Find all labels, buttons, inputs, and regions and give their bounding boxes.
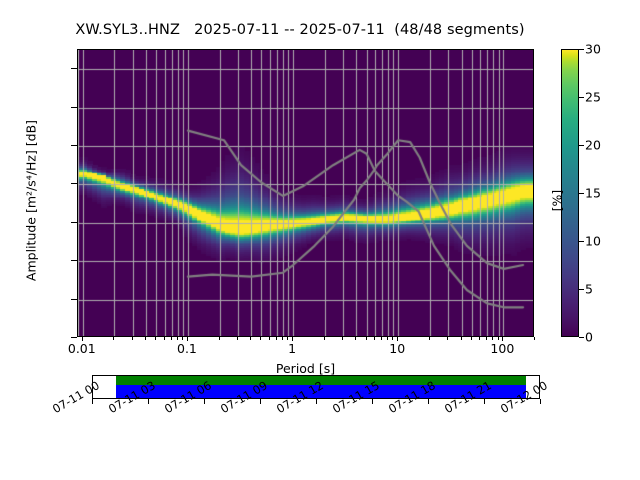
colorbar-tick-label: 0 [585,330,593,345]
y-tick-mark [71,145,77,146]
x-tick-mark-minor [429,337,430,340]
colorbar-tick-label: 10 [585,234,601,249]
x-tick-mark-minor [219,337,220,340]
x-tick-label: 100 [490,341,514,356]
y-tick-mark [71,299,77,300]
y-tick-mark [71,183,77,184]
x-tick-mark-minor [164,337,165,340]
x-tick-mark-minor [392,337,393,340]
x-tick-label: 0.1 [177,341,197,356]
x-tick-mark-minor [132,337,133,340]
x-tick-mark-minor [486,337,487,340]
x-tick-mark-minor [250,337,251,340]
x-tick-mark-minor [282,337,283,340]
time-tick-mark [204,399,205,404]
colorbar-tick-label: 20 [585,138,601,153]
x-tick-mark-minor [182,337,183,340]
x-tick-mark-minor [145,337,146,340]
y-tick-mark [71,337,77,338]
y-tick-mark [71,222,77,223]
colorbar-tick-label: 15 [585,186,601,201]
colorbar-tick-label: 30 [585,42,601,57]
x-tick-mark-minor [374,337,375,340]
x-tick-mark-minor [381,337,382,340]
x-tick-mark-minor [113,337,114,340]
colorbar-tick-mark [579,49,584,50]
x-tick-mark-minor [324,337,325,340]
colorbar-tick-mark [579,193,584,194]
ppsd-figure: XW.SYL3..HNZ 2025-07-11 -- 2025-07-11 (4… [0,0,640,480]
y-tick-mark [71,68,77,69]
time-tick-mark [484,399,485,404]
x-tick-label: 10 [389,341,405,356]
x-tick-mark-minor [342,337,343,340]
colorbar-tick-mark [579,241,584,242]
x-tick-mark-minor [447,337,448,340]
colorbar-tick-label: 5 [585,282,593,297]
colorbar-tick-label: 25 [585,90,601,105]
y-tick-mark [71,107,77,108]
x-tick-mark-minor [461,337,462,340]
colorbar-tick-mark [579,337,584,338]
x-tick-mark-minor [276,337,277,340]
colorbar-tick-mark [579,97,584,98]
x-tick-mark-minor [355,337,356,340]
x-tick-mark-minor [287,337,288,340]
x-axis-label: Period [s] [77,361,534,376]
ppsd-plot-area[interactable] [77,49,534,337]
time-tick-mark [316,399,317,404]
colorbar-label: [%] [550,141,565,261]
colorbar-tick-mark [579,289,584,290]
x-tick-mark-minor [155,337,156,340]
y-axis-label: Amplitude [m²/s⁴/Hz] [dB] [24,51,39,351]
time-tick-mark [92,399,93,404]
x-tick-mark-minor [366,337,367,340]
x-tick-mark-minor [177,337,178,340]
time-tick-mark [260,399,261,404]
x-tick-mark-minor [171,337,172,340]
time-tick-mark [372,399,373,404]
x-tick-mark-minor [534,337,535,340]
time-tick-mark [428,399,429,404]
x-tick-mark-minor [237,337,238,340]
colorbar-tick-mark [579,145,584,146]
x-tick-mark-minor [269,337,270,340]
x-tick-mark-minor [498,337,499,340]
x-tick-mark-minor [492,337,493,340]
page-title: XW.SYL3..HNZ 2025-07-11 -- 2025-07-11 (4… [0,22,600,38]
x-tick-label: 0.01 [68,341,96,356]
y-tick-mark [71,260,77,261]
time-tick-mark [148,399,149,404]
x-tick-mark-minor [471,337,472,340]
time-tick-mark [540,399,541,404]
x-tick-mark-minor [479,337,480,340]
x-tick-mark-minor [260,337,261,340]
ppsd-histogram-canvas [78,50,534,337]
x-tick-mark-minor [387,337,388,340]
x-tick-label: 1 [288,341,296,356]
